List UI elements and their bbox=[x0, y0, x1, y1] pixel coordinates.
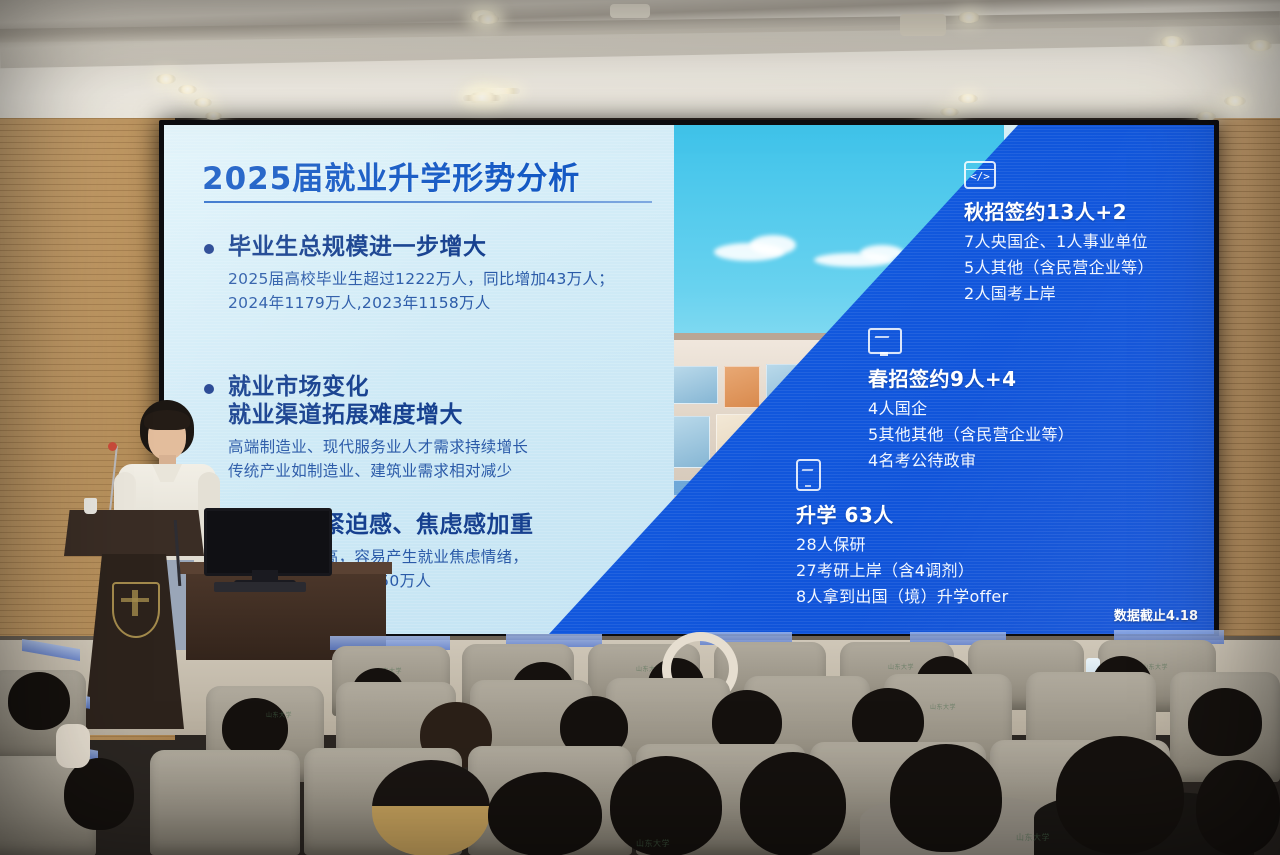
downlight bbox=[194, 98, 212, 107]
lecture-hall-photo: 2025届就业升学形势分析 毕业生总规模进一步增大 2025届高校毕业生超过12… bbox=[0, 0, 1280, 855]
seat-logo: 山东大学 bbox=[636, 838, 670, 849]
tablet-device-icon bbox=[796, 459, 821, 491]
code-window-icon: </> bbox=[964, 161, 996, 189]
further-study-line-3: 8人拿到出国（境）升学offer bbox=[796, 584, 1008, 610]
further-study-line-2: 27考研上岸（含4调剂） bbox=[796, 558, 1008, 584]
downlight bbox=[958, 94, 978, 103]
podium-top bbox=[64, 510, 204, 556]
audience-head bbox=[372, 760, 490, 855]
bullet-1-heading: 毕业生总规模进一步增大 bbox=[228, 233, 487, 261]
panel-section-autumn: </> 秋招签约13人+2 7人央国企、1人事业单位 5人其他（含民营企业等） … bbox=[964, 161, 1154, 307]
panel-section-spring: 春招签约9人+4 4人国企 5其他其他（含民营企业等） 4名考公待政审 bbox=[868, 328, 1074, 474]
tote-bag bbox=[56, 724, 90, 768]
audience-head bbox=[8, 672, 70, 730]
seat bbox=[150, 750, 300, 855]
downlight bbox=[178, 85, 197, 94]
slide-title: 2025届就业升学形势分析 bbox=[202, 153, 580, 198]
downlight bbox=[156, 74, 176, 84]
title-underline bbox=[204, 201, 652, 203]
desktop-monitor-icon bbox=[868, 328, 902, 354]
downlight bbox=[610, 4, 650, 18]
audience-head bbox=[740, 752, 846, 855]
water-cup bbox=[84, 498, 97, 514]
further-study-heading: 升学 63人 bbox=[796, 499, 1008, 528]
window bbox=[674, 416, 710, 468]
spring-heading: 春招签约9人+4 bbox=[868, 363, 1074, 392]
autumn-line-3: 2人国考上岸 bbox=[964, 281, 1154, 307]
downlight bbox=[1248, 40, 1272, 51]
audience-head bbox=[64, 758, 134, 830]
bullet-dot-icon bbox=[204, 384, 214, 394]
cloud bbox=[750, 235, 796, 255]
panel-section-further-study: 升学 63人 28人保研 27考研上岸（含4调剂） 8人拿到出国（境）升学off… bbox=[796, 459, 1008, 610]
further-study-line-1: 28人保研 bbox=[796, 532, 1008, 558]
control-monitor bbox=[204, 508, 332, 576]
downlight bbox=[463, 95, 501, 101]
keyboard bbox=[214, 582, 306, 592]
audience-head bbox=[1056, 736, 1184, 854]
bullet-2-sub-1: 高端制造业、现代服务业人才需求持续增长 bbox=[228, 435, 528, 459]
spring-line-2: 5其他其他（含民营企业等） bbox=[868, 422, 1074, 448]
bullet-dot-icon bbox=[204, 244, 214, 254]
autumn-heading: 秋招签约13人+2 bbox=[964, 196, 1154, 225]
bullet-2-heading-line-1: 就业市场变化 bbox=[228, 373, 463, 401]
window bbox=[724, 366, 760, 408]
bullet-2-sub-2: 传统产业如制造业、建筑业需求相对减少 bbox=[228, 459, 528, 483]
slide-bullet-1: 毕业生总规模进一步增大 2025届高校毕业生超过1222万人，同比增加43万人；… bbox=[204, 233, 614, 315]
autumn-line-1: 7人央国企、1人事业单位 bbox=[964, 229, 1154, 255]
audience-head bbox=[1188, 688, 1262, 756]
speaker-fringe bbox=[144, 410, 190, 430]
window bbox=[674, 366, 718, 404]
seat-logo: 山东大学 bbox=[930, 702, 956, 711]
bullet-2-heading-line-2: 就业渠道拓展难度增大 bbox=[228, 401, 463, 429]
seat-logo: 山东大学 bbox=[888, 662, 914, 671]
seat-logo: 山东大学 bbox=[266, 710, 292, 719]
audience-head bbox=[488, 772, 602, 855]
downlight bbox=[205, 112, 222, 120]
downlight bbox=[477, 14, 499, 24]
microphone-head bbox=[108, 442, 117, 451]
seat-logo: 山东大学 bbox=[1016, 832, 1050, 843]
slide-bullet-2: 就业市场变化 就业渠道拓展难度增大 高端制造业、现代服务业人才需求持续增长 传统… bbox=[204, 373, 528, 483]
aisle-step-light bbox=[22, 639, 80, 661]
projector-housing bbox=[900, 14, 946, 36]
downlight bbox=[1160, 36, 1184, 47]
downlight bbox=[940, 108, 959, 116]
audience-head bbox=[222, 698, 288, 758]
bullet-1-sub-2: 2024年1179万人,2023年1158万人 bbox=[228, 291, 614, 315]
spring-line-1: 4人国企 bbox=[868, 396, 1074, 422]
bullet-1-sub-1: 2025届高校毕业生超过1222万人，同比增加43万人； bbox=[228, 267, 614, 291]
audience-head bbox=[890, 744, 1002, 852]
audience-seating: 山东大学 山东大学 山东大学 山东大学 山东大学 山东大学 bbox=[0, 610, 1280, 855]
audience-head bbox=[1196, 760, 1280, 855]
downlight bbox=[1224, 96, 1246, 106]
autumn-line-2: 5人其他（含民营企业等） bbox=[964, 255, 1154, 281]
downlight bbox=[958, 12, 980, 23]
